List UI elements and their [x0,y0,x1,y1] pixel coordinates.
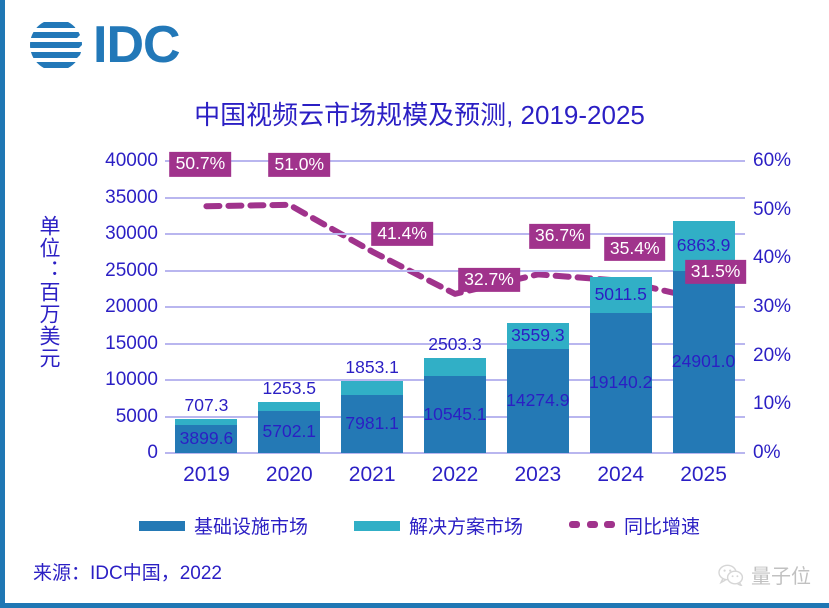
legend-label: 同比增速 [624,512,700,539]
bar-segment-infrastructure[interactable] [175,425,237,453]
y-axis-tick-label: 0 [68,442,158,464]
legend-item[interactable]: 解决方案市场 [354,512,523,539]
idc-globe-icon [27,16,89,74]
y-axis-tick-label: 30000 [68,223,158,245]
x-axis-tick-label: 2023 [514,463,561,487]
x-axis: 2019202020212022202320242025 [165,463,745,495]
growth-value-label: 51.0% [268,153,330,177]
bar-segment-solution[interactable] [424,358,486,376]
bar-segment-infrastructure[interactable] [424,376,486,453]
watermark-text: 量子位 [751,560,811,589]
growth-value-label: 31.5% [685,260,747,284]
x-axis-tick-label: 2024 [597,463,644,487]
legend-item[interactable]: 基础设施市场 [139,512,308,539]
legend-label: 解决方案市场 [409,512,523,539]
growth-value-label: 32.7% [458,268,520,292]
bar-group[interactable] [507,323,569,453]
idc-logo-text: IDC [93,19,180,71]
gridline [165,270,745,272]
x-axis-tick-label: 2022 [432,463,479,487]
page-title: 中国视频云市场规模及预测, 2019-2025 [5,95,829,132]
gridline [165,343,745,345]
growth-value-label: 41.4% [371,221,433,245]
y2-axis-tick-label: 50% [753,199,823,221]
y-axis-tick-label: 5000 [68,406,158,428]
growth-value-label: 35.4% [604,237,666,261]
legend-item[interactable]: 同比增速 [569,512,700,539]
wechat-icon [718,564,744,586]
x-axis-tick-label: 2020 [266,463,313,487]
x-axis-tick-label: 2021 [349,463,396,487]
gridline [165,197,745,199]
legend-label: 基础设施市场 [194,512,308,539]
y-axis-tick-label: 20000 [68,296,158,318]
x-axis-tick-label: 2025 [680,463,727,487]
bar-segment-solution[interactable] [341,381,403,395]
bar-segment-solution[interactable] [507,323,569,349]
growth-value-label: 50.7% [170,152,232,176]
y-axis-tick-label: 35000 [68,187,158,209]
y-axis-tick-label: 25000 [68,260,158,282]
bar-group[interactable] [258,402,320,453]
bar-segment-solution[interactable] [258,402,320,411]
y2-axis-tick-label: 30% [753,296,823,318]
chart-legend: 基础设施市场解决方案市场同比增速 [5,512,829,539]
y2-axis-tick-label: 0% [753,442,823,464]
bar-segment-infrastructure[interactable] [341,395,403,453]
source-note: 来源：IDC中国，2022 [33,558,222,585]
bar-segment-infrastructure[interactable] [507,349,569,453]
y-axis-tick-label: 15000 [68,333,158,355]
y-axis-title: 单位：百万美元 [29,215,59,369]
x-axis-tick-label: 2019 [183,463,230,487]
y-axis-right: 0%10%20%30%40%50%60% [753,161,823,453]
gridline [165,306,745,308]
chart-page: IDC 中国视频云市场规模及预测, 2019-2025 单位：百万美元 0500… [0,0,829,608]
idc-logo: IDC [27,16,180,74]
gridline [165,233,745,235]
y2-axis-tick-label: 40% [753,247,823,269]
y2-axis-tick-label: 20% [753,345,823,367]
growth-value-label: 36.7% [529,224,591,248]
bar-group[interactable] [590,277,652,453]
bar-group[interactable] [424,358,486,453]
y2-axis-tick-label: 10% [753,393,823,415]
bar-segment-solution[interactable] [590,277,652,314]
bar-segment-infrastructure[interactable] [590,313,652,453]
bar-group[interactable] [673,221,735,453]
y2-axis-tick-label: 60% [753,150,823,172]
bar-segment-solution[interactable] [175,419,237,424]
legend-swatch [354,521,400,531]
plot-area: 3899.6707.35702.11253.57981.11853.110545… [165,161,745,453]
y-axis-tick-label: 40000 [68,150,158,172]
watermark: 量子位 [718,560,811,589]
legend-swatch [139,521,185,531]
y-axis-tick-label: 10000 [68,369,158,391]
bar-segment-infrastructure[interactable] [673,271,735,453]
bar-segment-infrastructure[interactable] [258,411,320,453]
bar-group[interactable] [341,381,403,453]
bar-group[interactable] [175,419,237,453]
y-axis-left: 0500010000150002000025000300003500040000 [60,161,158,453]
legend-swatch-dashed [569,521,615,531]
gridline [165,160,745,162]
